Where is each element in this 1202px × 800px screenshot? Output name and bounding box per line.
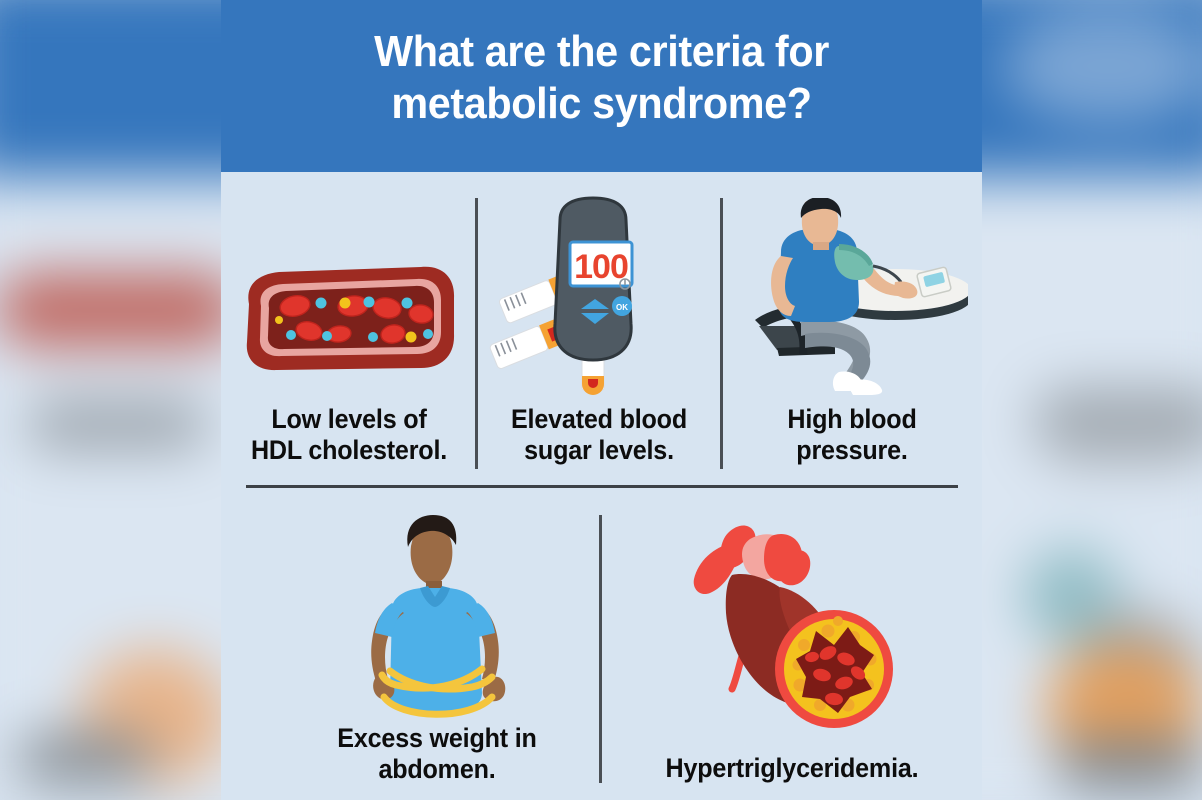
criterion-label-blood-sugar: Elevated blood sugar levels. <box>491 404 707 466</box>
waist-measuring-tape-icon <box>322 513 552 728</box>
background-smudge <box>17 734 155 785</box>
page-title: What are the criteria for metabolic synd… <box>244 26 959 130</box>
card-header: What are the criteria for metabolic synd… <box>221 0 982 172</box>
meter-body: 100 OK <box>555 198 632 360</box>
criterion-blood-sugar: 100 OK Elevated blood sugar levels. <box>483 196 715 472</box>
screenshot-stage: What are the criteria for metabolic synd… <box>0 0 1202 800</box>
artery-cross-section <box>775 610 893 728</box>
background-smudge <box>28 400 208 449</box>
criterion-label-abdominal-obesity: Excess weight in abdomen. <box>292 723 582 785</box>
criterion-hypertriglyceridemia: Hypertriglyceridemia. <box>607 505 977 800</box>
glucose-meter-icon: 100 OK <box>485 196 700 396</box>
background-smudge <box>1003 8 1202 125</box>
criterion-label-hdl: Low levels of HDL cholesterol. <box>237 404 460 466</box>
background-smudge <box>1045 416 1202 463</box>
infographic-card: What are the criteria for metabolic synd… <box>221 0 982 800</box>
clogged-artery-icon <box>688 513 900 735</box>
glucose-reading: 100 <box>574 248 628 286</box>
svg-text:OK: OK <box>616 303 628 312</box>
criterion-abdominal-obesity: Excess weight in abdomen. <box>281 505 593 800</box>
criterion-hdl: Low levels of HDL cholesterol. <box>229 196 469 472</box>
divider-horizontal <box>246 485 958 488</box>
divider-vertical-top-left <box>475 198 478 469</box>
criterion-blood-pressure: High blood pressure. <box>727 196 977 472</box>
divider-vertical-top-right <box>720 198 723 469</box>
divider-vertical-bottom <box>599 515 602 783</box>
background-smudge <box>1056 739 1202 790</box>
criterion-label-blood-pressure: High blood pressure. <box>736 404 969 466</box>
seated-patient-bp-cuff-icon <box>743 198 968 398</box>
head <box>407 515 456 595</box>
criterion-label-hypertriglyceridemia: Hypertriglyceridemia. <box>620 753 964 784</box>
blood-vessel-icon <box>235 258 463 388</box>
tshirt <box>390 586 482 711</box>
background-smudge <box>0 273 240 347</box>
